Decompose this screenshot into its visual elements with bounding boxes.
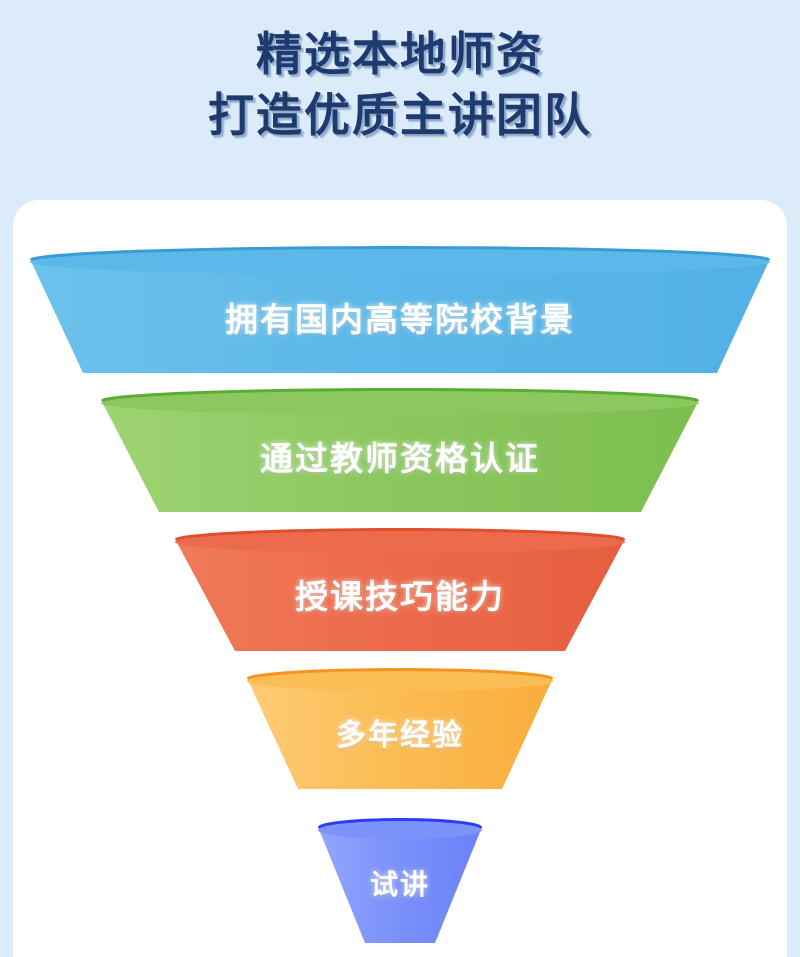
funnel-stage-3[interactable]: 授课技巧能力 [13,525,787,657]
page-header: 精选本地师资 打造优质主讲团队 [0,0,800,200]
funnel-stage-4[interactable]: 多年经验 [13,665,787,795]
funnel-stage-5-shape [13,815,787,947]
funnel-stage-2-shape [13,386,787,518]
funnel-stage-3-shape [13,525,787,657]
funnel-stage-4-shape [13,665,787,795]
funnel-chart: 拥有国内高等院校背景 通过教师资格认证 [13,200,787,957]
funnel-stage-1-shape [13,245,787,380]
funnel-stage-1[interactable]: 拥有国内高等院校背景 [13,245,787,380]
funnel-stage-2[interactable]: 通过教师资格认证 [13,386,787,518]
page-title-line-1: 精选本地师资 [256,24,544,85]
funnel-stage-5[interactable]: 试讲 [13,815,787,947]
funnel-card: 拥有国内高等院校背景 通过教师资格认证 [13,200,787,957]
page-title-line-2: 打造优质主讲团队 [208,85,592,146]
